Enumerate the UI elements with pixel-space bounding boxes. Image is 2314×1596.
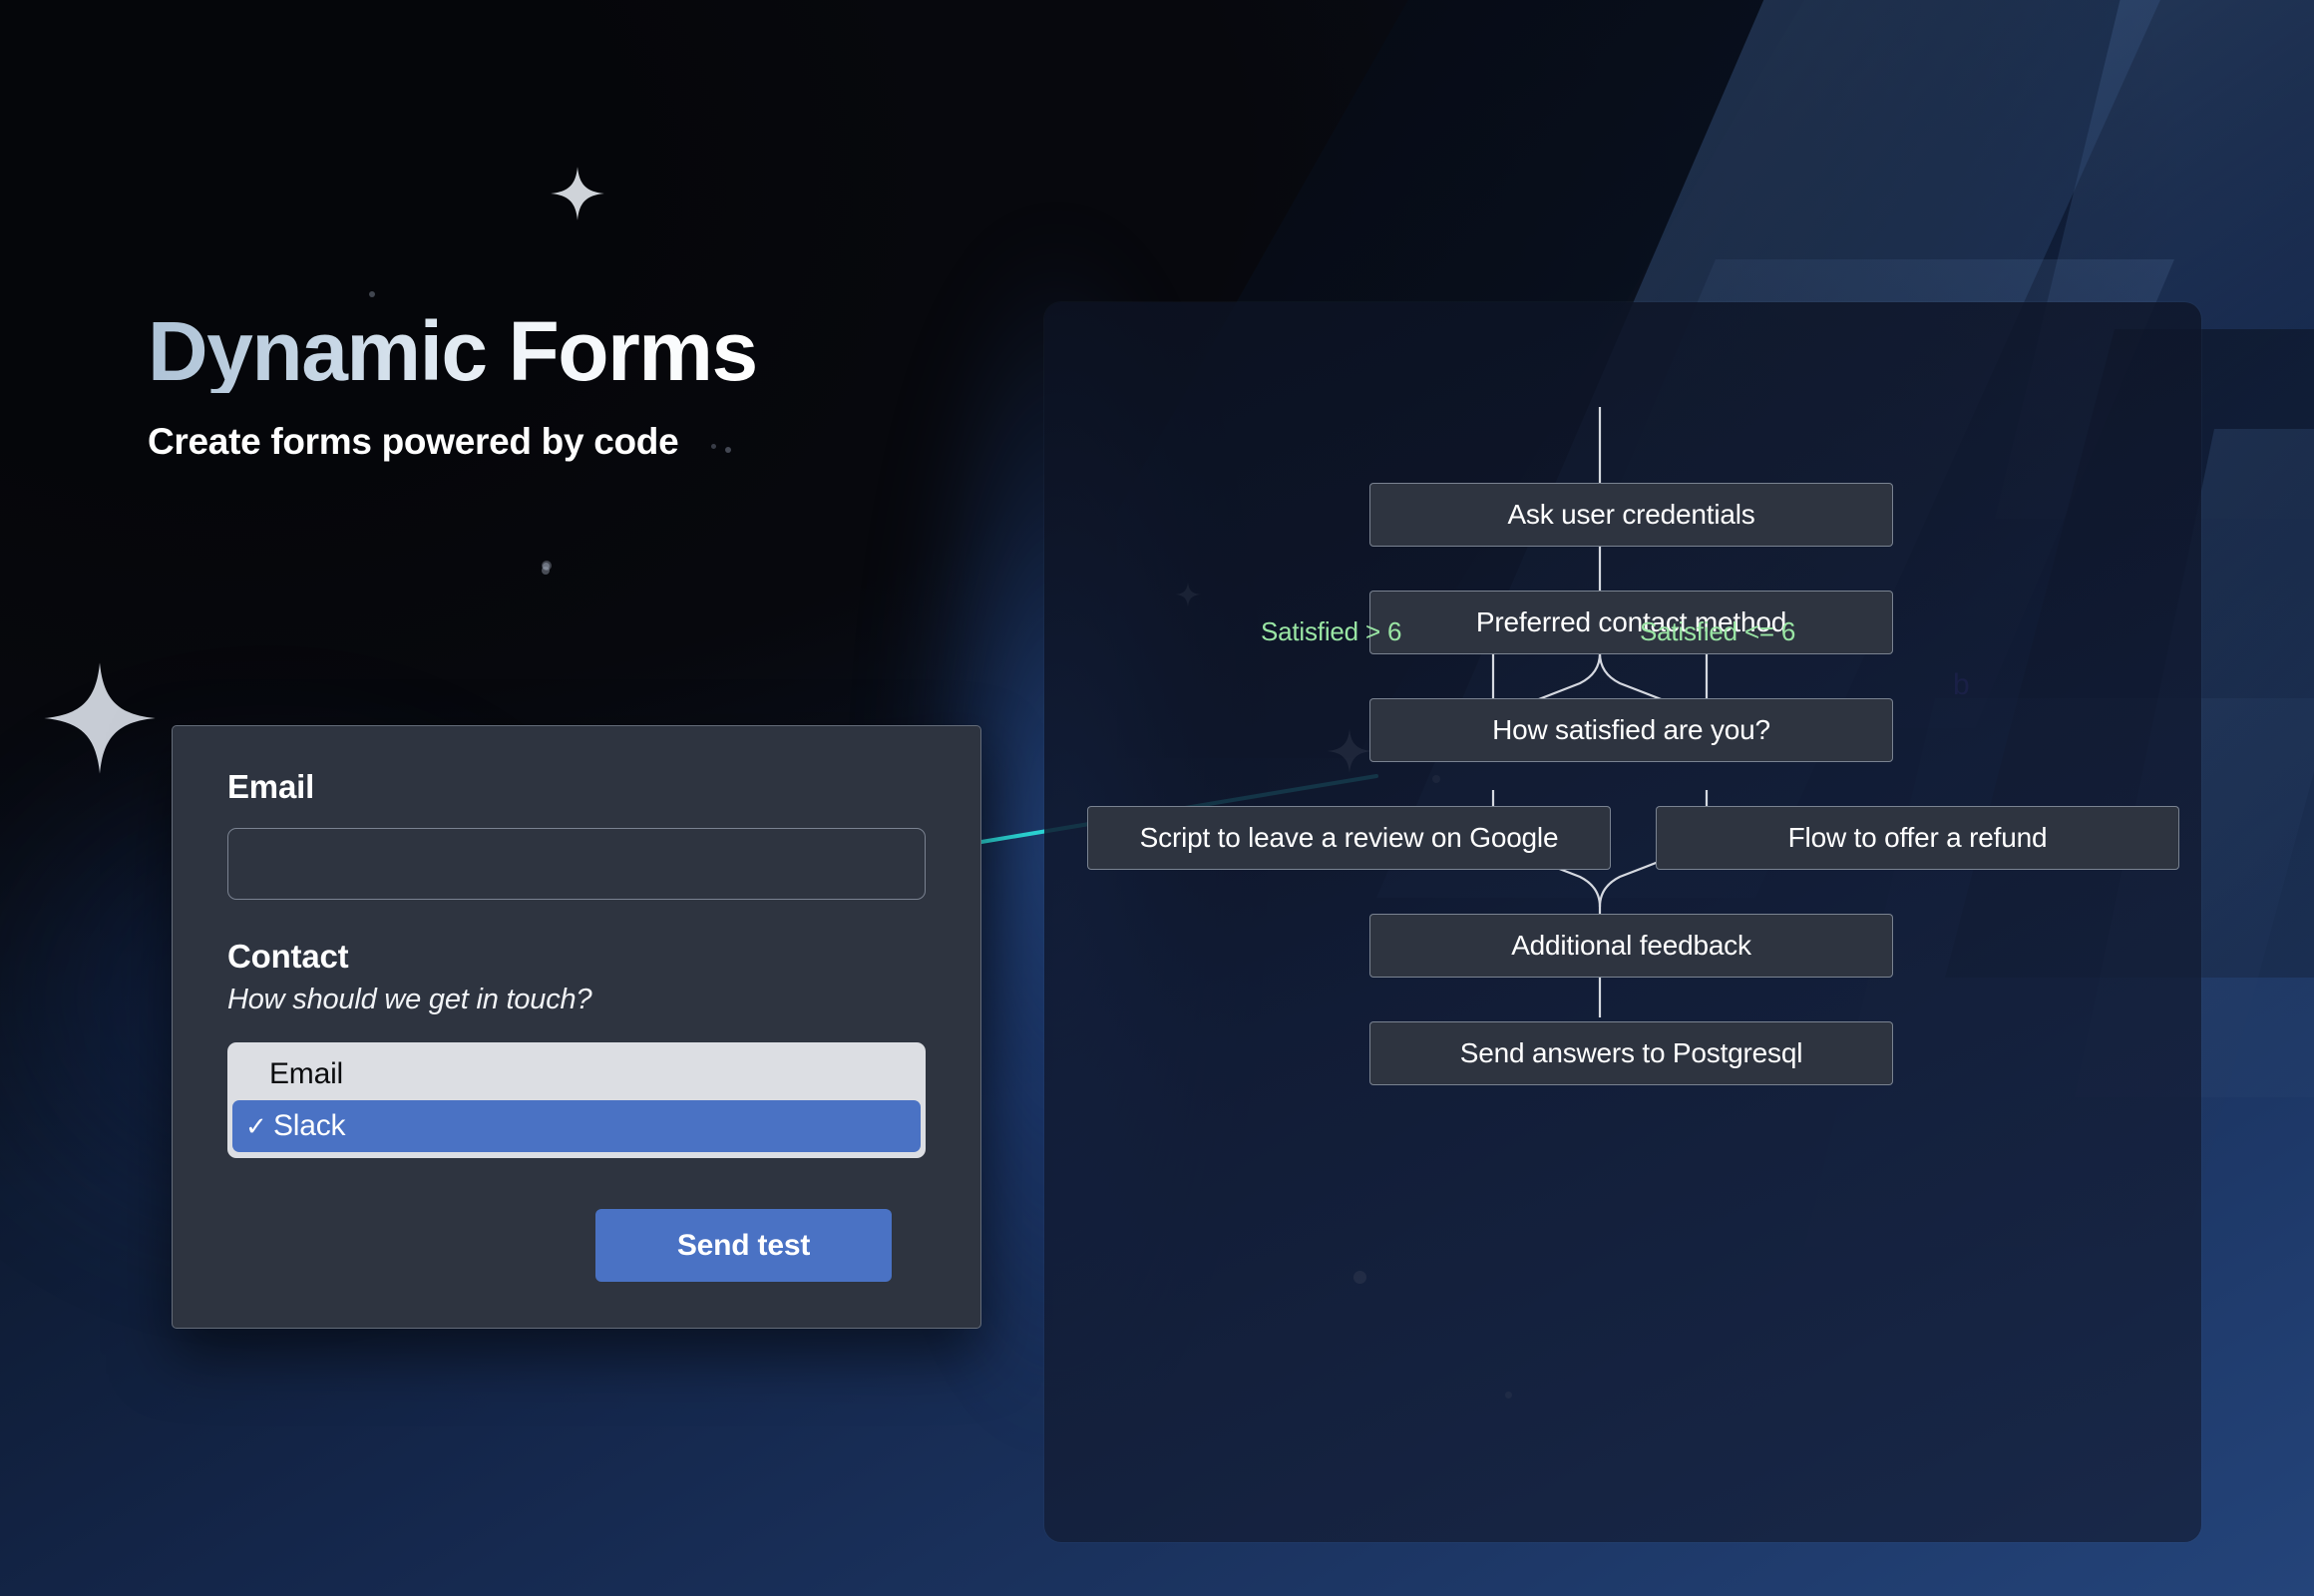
flow-node-preferred-contact-method[interactable]: Preferred contact method bbox=[1369, 591, 1893, 654]
email-field-group: Email bbox=[227, 768, 926, 900]
flow-node-additional-feedback[interactable]: Additional feedback bbox=[1369, 914, 1893, 978]
sparkle-icon bbox=[42, 660, 158, 776]
page-title: Dynamic Forms bbox=[148, 309, 757, 393]
contact-field-group: Contact How should we get in touch? Emai… bbox=[227, 938, 926, 1158]
sparkle-icon bbox=[550, 166, 605, 221]
decor-dot bbox=[542, 561, 552, 571]
flow-node-how-satisfied-are-you[interactable]: How satisfied are you? bbox=[1369, 698, 1893, 762]
flow-panel: Ask user credentials Preferred contact m… bbox=[1044, 302, 2201, 1542]
contact-hint: How should we get in touch? bbox=[227, 984, 926, 1016]
flow-node-send-answers-postgresql[interactable]: Send answers to Postgresql bbox=[1369, 1021, 1893, 1085]
flow-node-label: Send answers to Postgresql bbox=[1460, 1037, 1802, 1069]
email-label: Email bbox=[227, 768, 926, 806]
send-test-button[interactable]: Send test bbox=[595, 1209, 892, 1282]
contact-label: Contact bbox=[227, 938, 926, 976]
email-input[interactable] bbox=[227, 828, 926, 900]
flow-node-script-review-google[interactable]: Script to leave a review on Google bbox=[1087, 806, 1611, 870]
contact-select-listbox[interactable]: Email ✓ Slack bbox=[227, 1042, 926, 1158]
branch-label-satisfied-lte-6: Satisfied <= 6 bbox=[1640, 616, 1795, 647]
contact-option-email[interactable]: Email bbox=[232, 1048, 921, 1100]
flow-node-flow-offer-refund[interactable]: Flow to offer a refund bbox=[1656, 806, 2179, 870]
contact-option-email-label: Email bbox=[269, 1057, 343, 1091]
flow-node-label: Ask user credentials bbox=[1507, 499, 1754, 531]
flow-node-ask-user-credentials[interactable]: Ask user credentials bbox=[1369, 483, 1893, 547]
page-subtitle: Create forms powered by code bbox=[148, 421, 757, 463]
hero-text-group: Dynamic Forms Create forms powered by co… bbox=[148, 309, 757, 463]
form-card: Email Contact How should we get in touch… bbox=[172, 725, 981, 1329]
contact-option-slack[interactable]: ✓ Slack bbox=[232, 1100, 921, 1152]
flow-node-label: Additional feedback bbox=[1511, 930, 1751, 962]
flow-node-label: How satisfied are you? bbox=[1492, 714, 1770, 746]
flow-node-label: Flow to offer a refund bbox=[1788, 822, 2048, 854]
flow-node-label: Script to leave a review on Google bbox=[1140, 822, 1559, 854]
contact-option-slack-label: Slack bbox=[273, 1109, 345, 1143]
decor-dot bbox=[369, 291, 375, 297]
branch-label-satisfied-gt-6: Satisfied > 6 bbox=[1261, 616, 1401, 647]
check-icon: ✓ bbox=[245, 1111, 269, 1142]
